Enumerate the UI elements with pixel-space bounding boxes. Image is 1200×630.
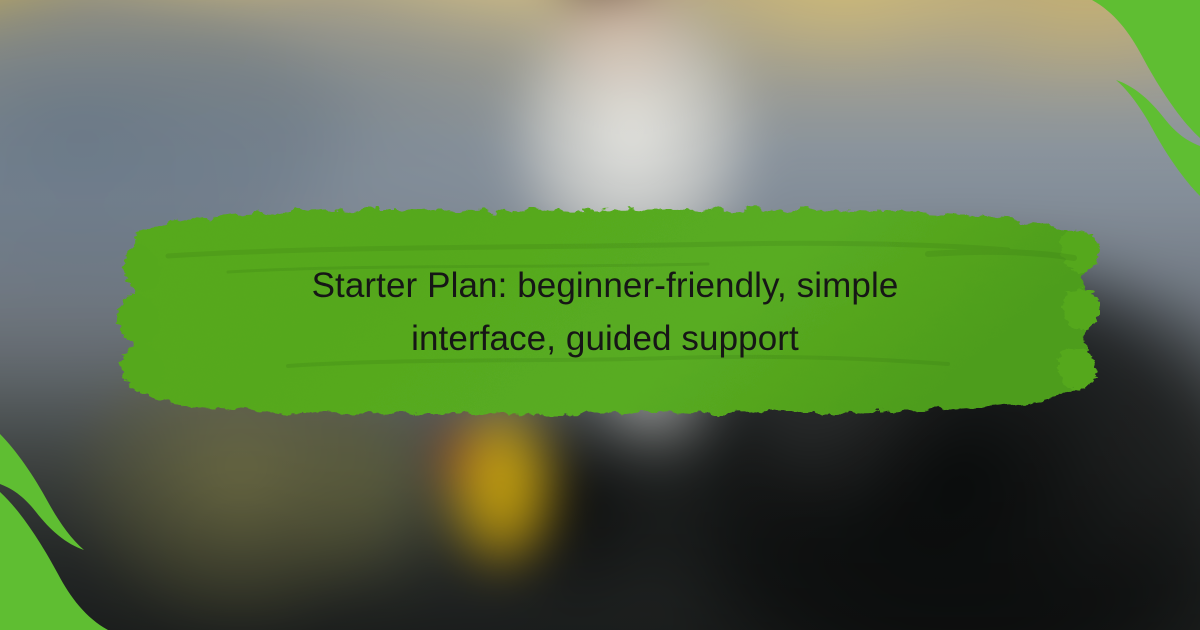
headline-line-2: interface, guided support <box>411 318 799 359</box>
banner-headline: Starter Plan: beginner-friendly, simple … <box>150 198 1060 426</box>
headline-line-1: Starter Plan: beginner-friendly, simple <box>312 265 899 306</box>
share-card: Starter Plan: beginner-friendly, simple … <box>0 0 1200 630</box>
